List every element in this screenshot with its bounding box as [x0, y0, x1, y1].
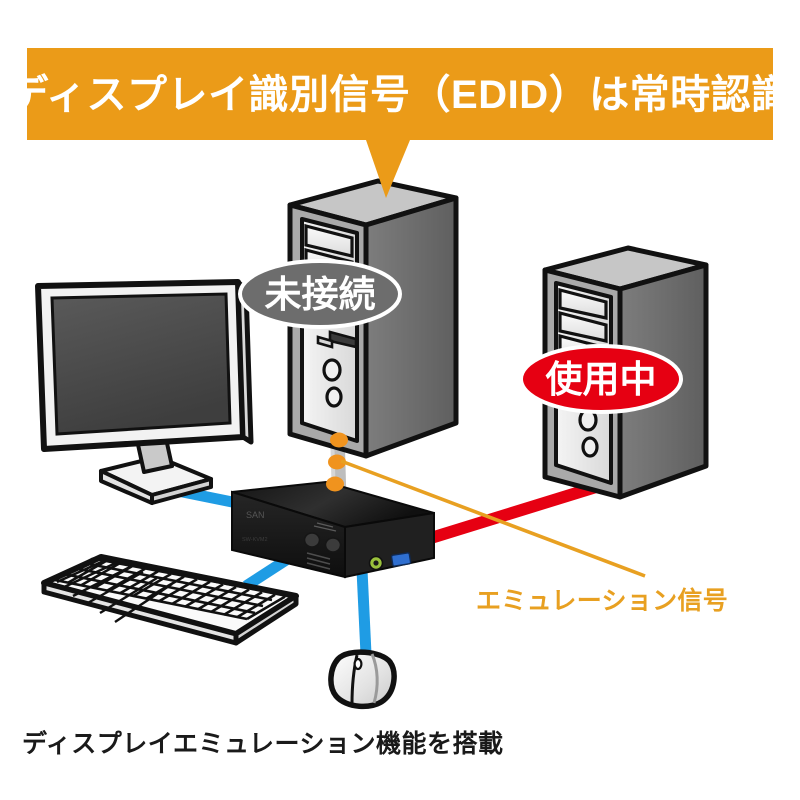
- pc1-status-label: 未接続: [265, 274, 376, 315]
- mouse: [331, 652, 394, 706]
- banner-title: ディスプレイ識別信号（EDID）は常時認識: [8, 72, 791, 117]
- illustration-root: SAN SW-KVM2: [0, 0, 800, 800]
- emu-dot-1: [330, 433, 348, 448]
- kvm-usb-port[interactable]: [391, 553, 410, 567]
- pc1-side-face: [366, 198, 456, 456]
- emu-dot-3: [326, 477, 344, 492]
- kvm-select-button-1[interactable]: [305, 533, 320, 547]
- kvm-switch: SAN SW-KVM2: [232, 482, 434, 577]
- kvm-brand-mark: SAN: [246, 510, 265, 520]
- kvm-select-button-2[interactable]: [326, 538, 341, 552]
- pc2-status-label: 使用中: [546, 359, 657, 400]
- emulation-signal-label: エミュレーション信号: [476, 587, 728, 615]
- kvm-audio-jack-hole: [373, 560, 378, 565]
- keyboard: [44, 557, 296, 643]
- banner: ディスプレイ識別信号（EDID）は常時認識: [8, 48, 791, 198]
- pc1-reset-button[interactable]: [327, 388, 341, 406]
- monitor-screen: [52, 294, 230, 434]
- cable-mouse-to-kvm: [362, 570, 366, 654]
- cable-pc2-to-kvm: [418, 487, 596, 542]
- mouse-scroll-wheel: [355, 659, 362, 669]
- pc2-reset-button[interactable]: [583, 438, 597, 456]
- kvm-model-text: SW-KVM2: [242, 537, 268, 543]
- page-caption: ディスプレイエミュレーション機能を搭載: [22, 729, 762, 759]
- diagram-canvas: SAN SW-KVM2: [0, 0, 800, 800]
- status-badge-pc2: 使用中: [521, 346, 681, 412]
- display-monitor: [38, 282, 251, 503]
- pc1-power-button[interactable]: [324, 360, 340, 380]
- mouse-body: [331, 652, 394, 706]
- status-badge-pc1: 未接続: [240, 261, 400, 327]
